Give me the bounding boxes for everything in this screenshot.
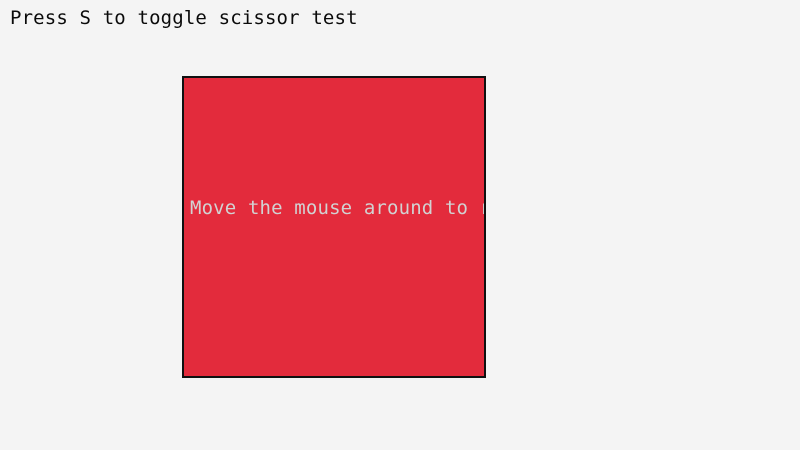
instruction-text: Press S to toggle scissor test: [10, 6, 358, 30]
scissor-clipped-label: Move the mouse around to r: [190, 196, 486, 220]
demo-canvas: Press S to toggle scissor test Move the …: [0, 0, 800, 450]
scissor-test-rectangle[interactable]: Move the mouse around to r: [182, 76, 486, 378]
